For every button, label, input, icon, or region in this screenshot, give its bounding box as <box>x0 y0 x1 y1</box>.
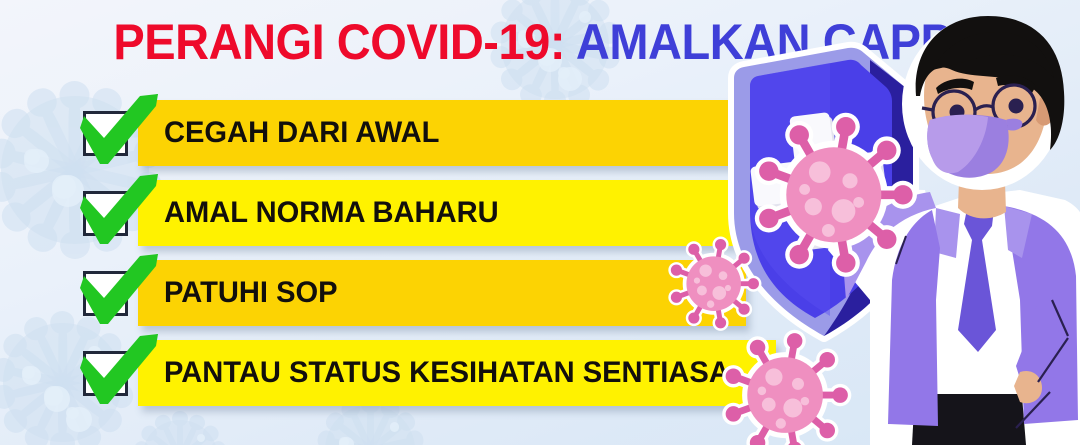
checkbox[interactable] <box>83 191 128 236</box>
eye-right <box>1009 99 1024 114</box>
checklist-label: AMAL NORMA BAHARU <box>164 196 499 230</box>
infographic-poster: PERANGI COVID-19: AMALKAN CAPP- CEGAH DA… <box>0 0 1080 445</box>
checklist-label: PANTAU STATUS KESIHATAN SENTIASA <box>164 356 730 390</box>
checklist-bar[interactable]: PATUHI SOP <box>138 260 746 326</box>
checklist-row: PANTAU STATUS KESIHATAN SENTIASA <box>0 340 800 406</box>
virus-large-top <box>742 103 926 287</box>
virus-medium-bottom <box>712 322 858 445</box>
checkbox[interactable] <box>83 271 128 316</box>
watermark-virus-left-top <box>0 55 190 285</box>
checklist-label: PATUHI SOP <box>164 276 338 310</box>
checkbox[interactable] <box>83 351 128 396</box>
checklist-bar[interactable]: AMAL NORMA BAHARU <box>138 180 746 246</box>
checklist-bar[interactable]: PANTAU STATUS KESIHATAN SENTIASA <box>138 340 776 406</box>
virus-small-mid <box>661 231 766 336</box>
checklist-label: CEGAH DARI AWAL <box>164 116 439 150</box>
checklist-row: CEGAH DARI AWAL <box>0 100 800 166</box>
checklist-bar[interactable]: CEGAH DARI AWAL <box>138 100 746 166</box>
checkbox[interactable] <box>83 111 128 156</box>
title-red-part: PERANGI COVID-19: <box>113 14 565 70</box>
